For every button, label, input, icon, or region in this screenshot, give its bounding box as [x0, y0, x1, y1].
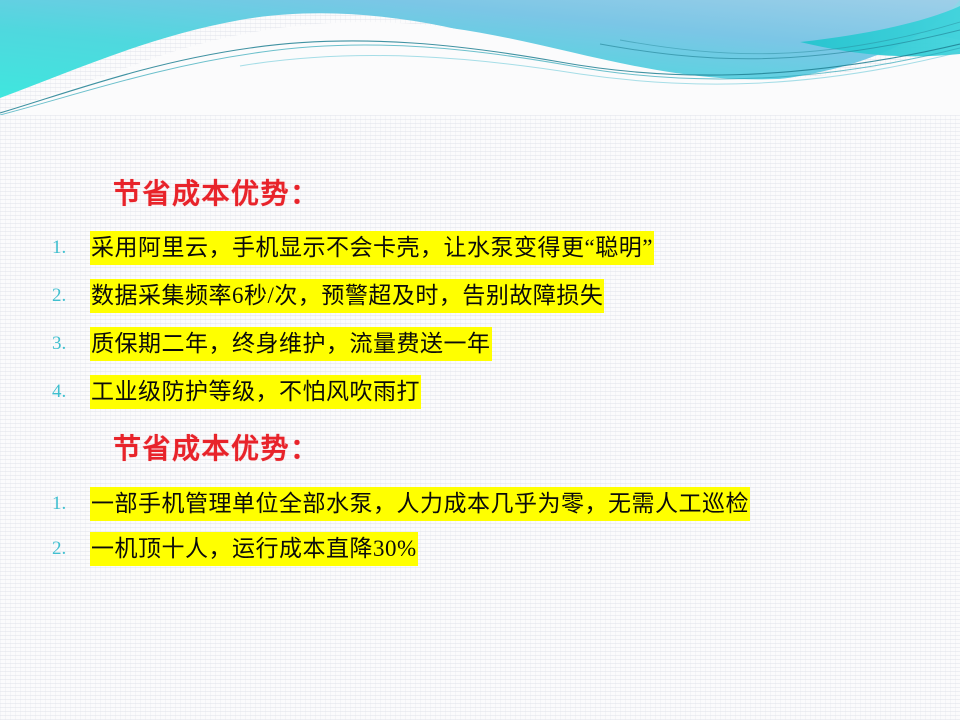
list-item-text: 采用阿里云，手机显示不会卡壳，让水泵变得更“聪明” [90, 231, 654, 265]
list-item: 2. 数据采集频率6秒/次，预警超及时，告别故障损失 [52, 279, 604, 313]
section-title-1: 节省成本优势： [113, 172, 320, 212]
list-item: 4. 工业级防护等级，不怕风吹雨打 [52, 375, 421, 409]
slide-content: 节省成本优势： 1. 采用阿里云，手机显示不会卡壳，让水泵变得更“聪明” 2. … [0, 0, 960, 720]
list-marker: 2. [52, 285, 90, 307]
list-item: 3. 质保期二年，终身维护，流量费送一年 [52, 327, 492, 361]
list-marker: 1. [52, 493, 90, 515]
list-marker: 2. [52, 538, 90, 560]
list-item-text: 质保期二年，终身维护，流量费送一年 [90, 327, 492, 361]
list-item-text: 一机顶十人，运行成本直降30% [90, 532, 418, 566]
list-item-text: 一部手机管理单位全部水泵，人力成本几乎为零，无需人工巡检 [90, 487, 750, 521]
section-title-2: 节省成本优势： [113, 427, 320, 467]
slide-canvas: 节省成本优势： 1. 采用阿里云，手机显示不会卡壳，让水泵变得更“聪明” 2. … [0, 0, 960, 720]
list-item: 1. 采用阿里云，手机显示不会卡壳，让水泵变得更“聪明” [52, 231, 654, 265]
list-marker: 1. [52, 237, 90, 259]
list-item-text: 数据采集频率6秒/次，预警超及时，告别故障损失 [90, 279, 604, 313]
list-item-text: 工业级防护等级，不怕风吹雨打 [90, 375, 421, 409]
list-marker: 3. [52, 333, 90, 355]
list-item: 2. 一机顶十人，运行成本直降30% [52, 532, 418, 566]
list-marker: 4. [52, 381, 90, 403]
list-item: 1. 一部手机管理单位全部水泵，人力成本几乎为零，无需人工巡检 [52, 487, 750, 521]
